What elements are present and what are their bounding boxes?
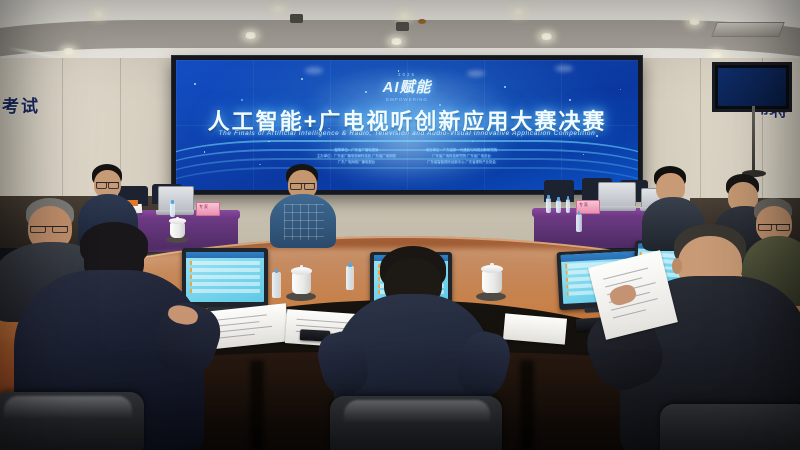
ceiling-downlight — [688, 18, 701, 25]
ceiling-downlight — [272, 5, 285, 12]
water-bottle[interactable] — [576, 214, 582, 232]
eyeglasses — [290, 183, 315, 184]
name-card-right-text: 专家 — [579, 202, 589, 208]
ceiling-speaker — [290, 14, 303, 23]
water-bottle — [170, 203, 175, 217]
ceiling-downlight — [540, 33, 553, 40]
table-leg — [250, 360, 264, 450]
table-leg — [520, 360, 534, 450]
water-bottle[interactable] — [272, 272, 281, 298]
name-card-left-text: 专家 — [199, 204, 209, 210]
led-video-wall: 2025 AI赋能 EMPOWERING 人工智能+广电视听创新应用大赛决赛 T… — [172, 56, 642, 194]
eyeglasses — [96, 182, 119, 183]
laptop-left — [156, 186, 194, 216]
ceiling-projector — [418, 19, 426, 24]
wall-sign-left: 考试 — [2, 92, 40, 117]
tea-cup-left[interactable] — [292, 272, 311, 294]
ceiling-downlight — [390, 38, 403, 45]
water-bottle — [566, 199, 570, 213]
office-chair-left-highlight — [4, 396, 132, 418]
ceiling-downlight — [62, 48, 75, 55]
laptop-right-a — [596, 182, 636, 212]
water-bottle — [556, 200, 561, 213]
conference-room-photo: 考试 特别前 特 2025 — [0, 0, 800, 450]
ceiling-downlight — [398, 12, 411, 19]
office-chair-right — [660, 404, 800, 450]
side-monitor — [712, 62, 792, 112]
ceiling-downlight — [92, 10, 105, 17]
water-bottle — [546, 198, 551, 213]
microphone-stand — [752, 106, 755, 172]
ear — [672, 258, 682, 274]
office-chair-center-highlight — [344, 400, 490, 422]
document-stack[interactable] — [503, 313, 567, 344]
name-card-left: 专家 — [196, 202, 220, 216]
ceiling-downlight — [244, 32, 257, 39]
led-panel-grid — [176, 60, 638, 190]
ceiling-speaker — [396, 22, 409, 31]
ceiling-air-duct — [711, 22, 784, 37]
attendee-left-1 — [272, 164, 338, 244]
plaid-pattern — [284, 204, 324, 240]
led-reflection — [305, 67, 323, 74]
ceiling-downlight — [512, 8, 525, 15]
